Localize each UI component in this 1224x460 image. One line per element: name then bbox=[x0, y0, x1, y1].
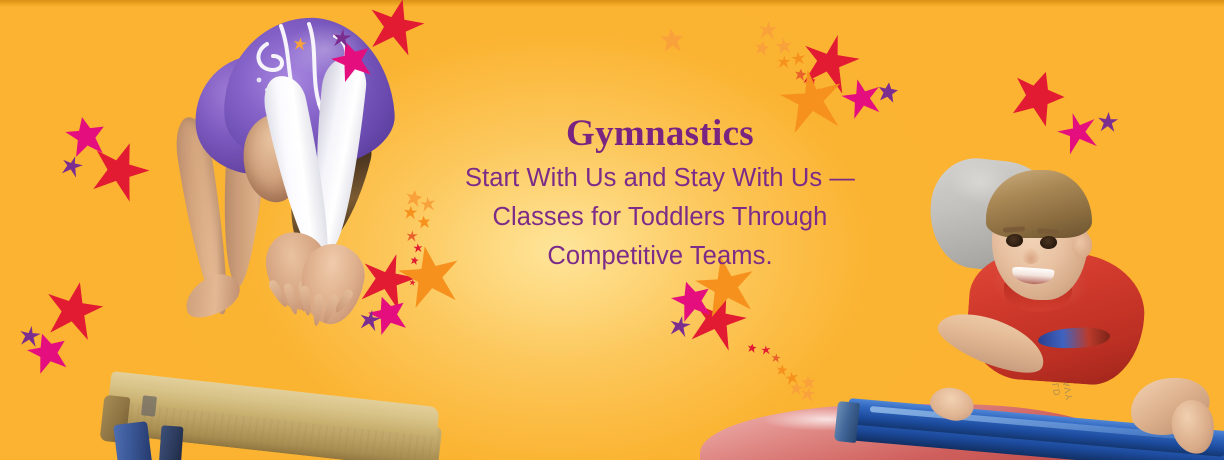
headline-subtitle-line-1: Start With Us and Stay With Us — bbox=[404, 159, 916, 198]
star-icon bbox=[681, 283, 754, 356]
headline-subtitle-line-3: Competitive Teams. bbox=[404, 237, 916, 276]
star-icon bbox=[664, 272, 719, 327]
star-icon bbox=[667, 313, 693, 339]
headline-block: Gymnastics Start With Us and Stay With U… bbox=[404, 112, 916, 276]
gymnastics-hero-banner: OLD NAVY Gymnastics Start With Us and St… bbox=[0, 0, 1224, 460]
headline-subtitle-line-2: Classes for Toddlers Through bbox=[404, 198, 916, 237]
headline-subtitle: Start With Us and Stay With Us — Classes… bbox=[404, 159, 916, 276]
page-title: Gymnastics bbox=[404, 112, 916, 156]
